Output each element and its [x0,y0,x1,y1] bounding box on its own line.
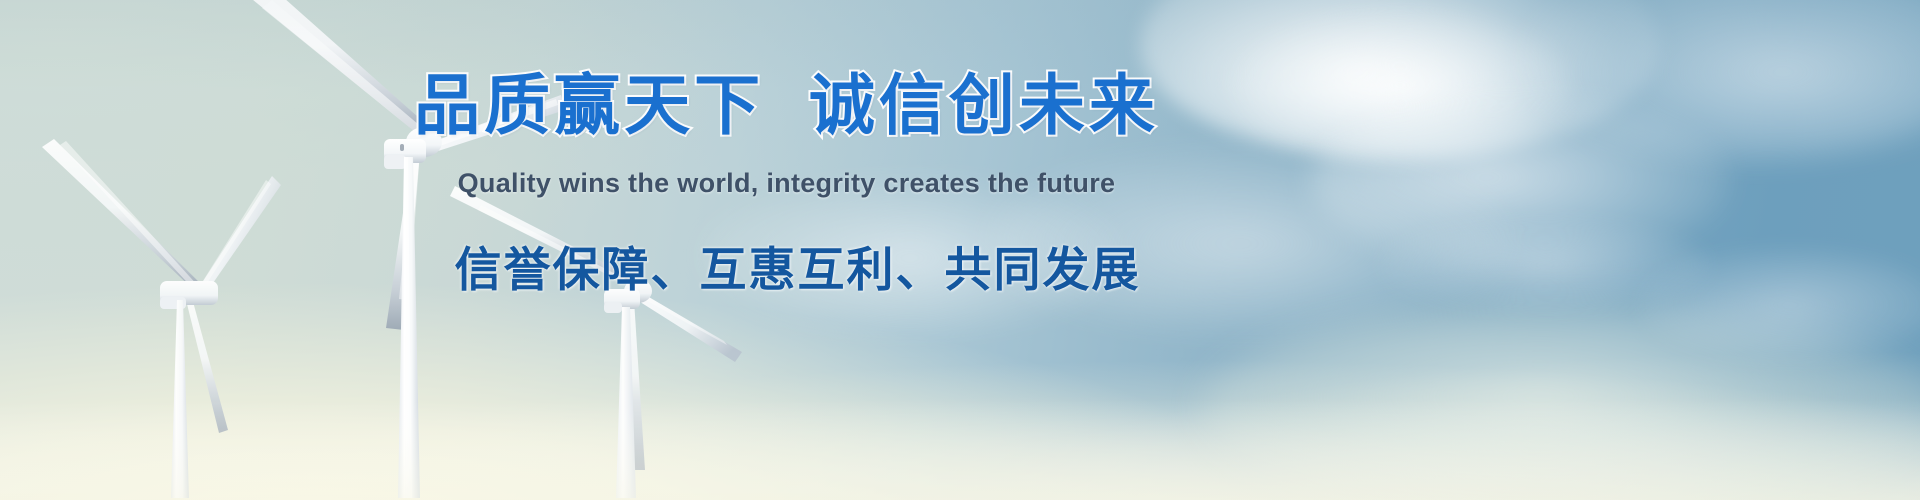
banner-tagline: 信誉保障、互惠互利、共同发展 [0,246,1595,293]
banner-headline: 品质赢天下 诚信创未来 [0,72,1573,138]
banner-subtitle-english: Quality wins the world, integrity create… [0,170,1573,197]
hero-banner: 品质赢天下 诚信创未来 Quality wins the world, inte… [0,0,1920,500]
banner-text-block: 品质赢天下 诚信创未来 Quality wins the world, inte… [0,0,1920,500]
